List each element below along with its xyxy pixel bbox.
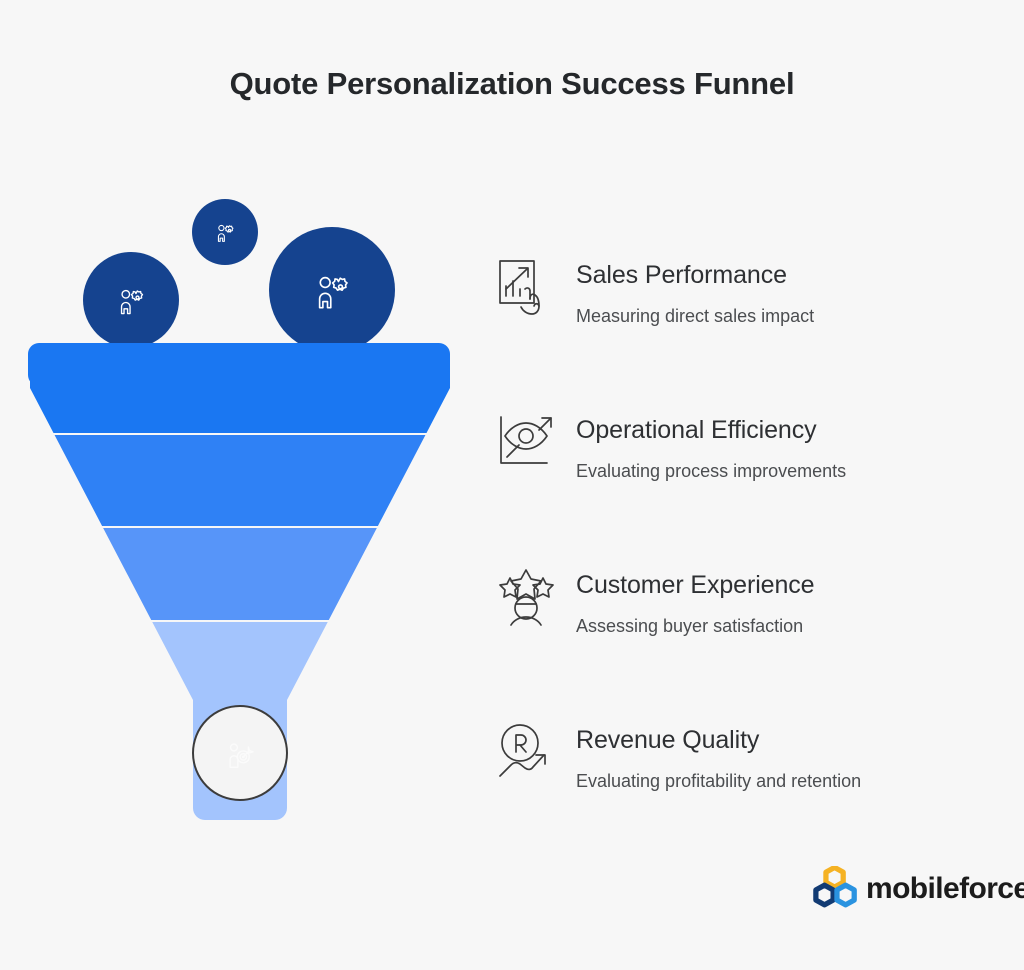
eye-axes-arrow-icon xyxy=(497,413,557,475)
metric-subtitle: Measuring direct sales impact xyxy=(576,304,814,328)
metric-text-block: Operational Efficiency Evaluating proces… xyxy=(576,413,846,483)
mobileforce-hexagon-logo xyxy=(812,866,860,912)
metric-title: Customer Experience xyxy=(576,568,814,602)
metric-item-sales-performance[interactable]: Sales Performance Measuring direct sales… xyxy=(497,258,997,413)
revenue-arrow-icon xyxy=(497,723,557,785)
funnel-node-large xyxy=(269,227,395,353)
metric-title: Revenue Quality xyxy=(576,723,861,757)
metric-subtitle: Evaluating profitability and retention xyxy=(576,769,861,793)
metric-text-block: Customer Experience Assessing buyer sati… xyxy=(576,568,814,638)
stars-person-icon xyxy=(497,568,557,630)
metrics-list: Sales Performance Measuring direct sales… xyxy=(497,258,997,878)
brand-logo[interactable]: mobileforce xyxy=(812,864,997,914)
page-title: Quote Personalization Success Funnel xyxy=(0,66,1024,102)
chart-document-hand-icon xyxy=(497,258,557,320)
logo-wordmark: mobileforce xyxy=(866,872,1024,906)
metric-item-customer-experience[interactable]: Customer Experience Assessing buyer sati… xyxy=(497,568,997,723)
funnel-band-2 xyxy=(0,435,480,526)
funnel-graphic xyxy=(0,180,480,820)
metric-subtitle: Assessing buyer satisfaction xyxy=(576,614,814,638)
metric-subtitle: Evaluating process improvements xyxy=(576,459,846,483)
metric-text-block: Revenue Quality Evaluating profitability… xyxy=(576,723,861,793)
funnel-node-medium xyxy=(83,252,179,348)
funnel-outcome-node xyxy=(193,706,287,800)
metric-item-operational-efficiency[interactable]: Operational Efficiency Evaluating proces… xyxy=(497,413,997,568)
funnel-node-small xyxy=(192,199,258,265)
infographic-canvas: Quote Personalization Success Funnel xyxy=(0,0,1024,970)
funnel-band-1 xyxy=(0,360,480,433)
metric-text-block: Sales Performance Measuring direct sales… xyxy=(576,258,814,328)
metric-title: Sales Performance xyxy=(576,258,814,292)
funnel-band-3 xyxy=(0,528,480,620)
metric-item-revenue-quality[interactable]: Revenue Quality Evaluating profitability… xyxy=(497,723,997,878)
metric-title: Operational Efficiency xyxy=(576,413,846,447)
